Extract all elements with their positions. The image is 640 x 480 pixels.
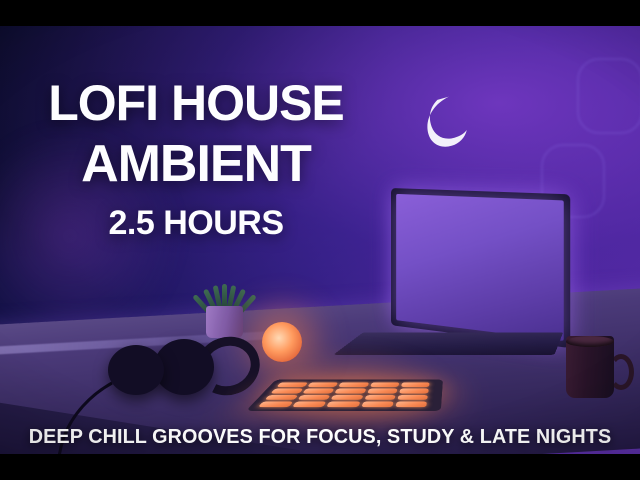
- sphere-lamp: [262, 322, 302, 362]
- title-line-1: LOFI HOUSE: [0, 78, 392, 128]
- midi-pad: [331, 395, 363, 400]
- midi-pad: [397, 395, 428, 400]
- midi-pad: [401, 382, 430, 386]
- midi-pad: [265, 395, 299, 400]
- midi-pad-body: [246, 379, 443, 411]
- midi-pad-grid: [258, 382, 430, 407]
- video-thumbnail: LOFI HOUSE AMBIENT 2.5 HOURS DEEP CHILL …: [0, 0, 640, 480]
- letterbox-bar-top: [0, 0, 640, 26]
- midi-pad: [277, 382, 309, 386]
- midi-pad: [367, 388, 397, 393]
- midi-pad: [361, 402, 394, 407]
- subtitle-text: DEEP CHILL GROOVES FOR FOCUS, STUDY & LA…: [11, 425, 629, 449]
- scene-background: LOFI HOUSE AMBIENT 2.5 HOURS DEEP CHILL …: [0, 26, 640, 454]
- mug-rim: [566, 336, 614, 347]
- midi-pad-controller: [246, 379, 443, 411]
- midi-pad: [303, 388, 335, 393]
- midi-pad: [335, 388, 366, 393]
- midi-pad: [370, 382, 399, 386]
- crescent-moon-icon: [418, 96, 470, 150]
- headphones: [108, 331, 236, 397]
- midi-pad: [364, 395, 396, 400]
- letterbox-bar-bottom: [0, 454, 640, 480]
- title-block: LOFI HOUSE AMBIENT 2.5 HOURS: [0, 78, 392, 243]
- wall-neon-shape-upper-icon: [577, 58, 640, 134]
- midi-pad: [395, 402, 427, 407]
- laptop-lid: [391, 188, 570, 348]
- headphone-earcup-left: [108, 345, 164, 395]
- midi-pad: [271, 388, 304, 393]
- midi-pad: [258, 402, 293, 407]
- laptop-screen: [396, 194, 564, 341]
- midi-pad: [308, 382, 339, 386]
- coffee-mug: [566, 336, 622, 398]
- title-line-2: AMBIENT: [0, 138, 392, 190]
- midi-pad: [327, 402, 361, 407]
- midi-pad: [339, 382, 369, 386]
- midi-pad: [399, 388, 429, 393]
- potted-plant: [198, 276, 250, 338]
- midi-pad: [298, 395, 331, 400]
- duration-label: 2.5 HOURS: [0, 204, 392, 243]
- midi-pad: [292, 402, 326, 407]
- mug-body: [566, 336, 614, 398]
